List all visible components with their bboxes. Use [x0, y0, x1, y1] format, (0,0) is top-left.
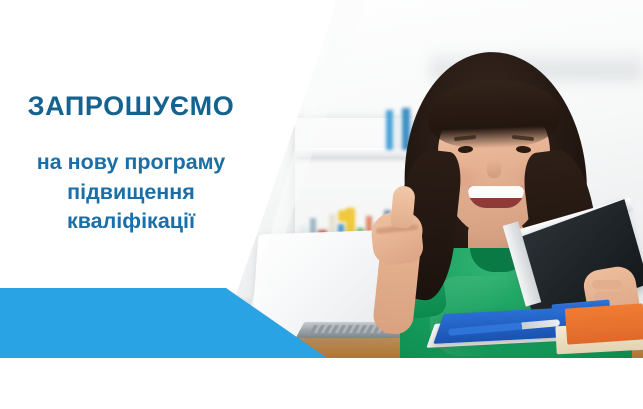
promo-banner: ЗАПРОШУЄМО на нову програму підвищення к…: [0, 0, 643, 409]
thumbs-up-icon: [390, 185, 416, 229]
subheading-line-2: підвищення: [0, 178, 262, 208]
subheading-line-3: кваліфікації: [0, 207, 262, 237]
bottom-white-margin: [0, 358, 643, 409]
orange-book: [565, 303, 643, 344]
subheading: на нову програму підвищення кваліфікації: [0, 148, 262, 237]
smiling-mouth: [468, 186, 524, 208]
finger-one: [592, 280, 622, 289]
page-title: ЗАПРОШУЄМО: [0, 92, 262, 120]
nose: [487, 160, 501, 178]
teeth: [468, 186, 524, 198]
subheading-line-1: на нову програму: [0, 148, 262, 178]
shelf-trinket: [338, 210, 352, 222]
